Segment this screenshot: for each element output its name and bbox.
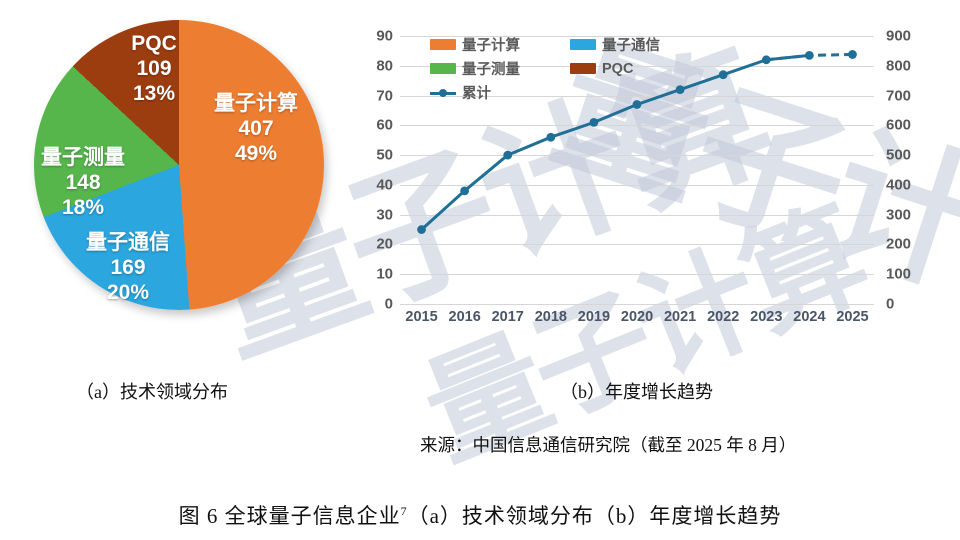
figure-page: 量子计算 量子计算 量子计算 量子计算 407 49% 量子通信 169 20%… [0,0,960,540]
legend-row: 量子计算 量子通信 [430,34,730,55]
y-axis-right-tick: 400 [886,176,911,193]
x-axis-tick-label: 2025 [836,309,868,325]
legend-item-quantum-communication: 量子通信 [570,34,710,55]
cumulative-data-point[interactable] [546,133,555,142]
pie-label-quantum-communication: 量子通信 169 20% [64,231,192,305]
x-axis-tick-label: 2019 [578,309,610,325]
y-axis-left-tick: 30 [376,206,393,223]
legend-item-quantum-computing: 量子计算 [430,34,570,55]
legend-item-quantum-measurement: 量子测量 [430,58,570,79]
y-axis-left-tick: 80 [376,57,393,74]
legend-swatch-icon [430,39,456,50]
x-axis-tick-label: 2024 [793,309,825,325]
cumulative-data-point[interactable] [503,151,512,160]
cumulative-data-point[interactable] [762,55,771,64]
cumulative-data-point[interactable] [460,186,469,195]
cumulative-data-point[interactable] [848,50,857,59]
pie-label-pqc: PQC 109 13% [108,32,200,106]
cumulative-data-point[interactable] [590,118,599,127]
y-axis-right-tick: 700 [886,87,911,104]
pie-slice-percent: 18% [18,196,148,221]
cumulative-data-point[interactable] [805,51,814,60]
legend-swatch-icon [570,39,596,50]
y-axis-right-tick: 600 [886,117,911,134]
figure-caption: 图 6 全球量子信息企业7（a）技术领域分布（b）年度增长趋势 [0,500,960,530]
source-note: 来源：中国信息通信研究院（截至 2025 年 8 月） [420,432,796,457]
bar-chart-annual-growth: 0010100202003030040400505006060070700808… [352,22,952,342]
pie-slice-value: 148 [18,171,148,196]
y-axis-right-tick: 100 [886,266,911,283]
y-axis-right-tick: 200 [886,236,911,253]
figure-caption-prefix: 图 6 全球量子信息企业 [179,504,401,528]
pie-label-quantum-measurement: 量子测量 148 18% [18,146,148,220]
y-axis-left-tick: 60 [376,117,393,134]
x-axis-tick-label: 2021 [664,309,696,325]
pie-slice-label: 量子计算 [192,92,320,117]
x-axis-tick-label: 2023 [750,309,782,325]
legend-row: 累计 [430,82,730,103]
pie-slice-label: 量子测量 [18,146,148,171]
y-axis-right-tick: 0 [886,296,894,313]
y-axis-left-tick: 90 [376,28,393,45]
legend-label: 量子通信 [602,34,660,55]
pie-slice-percent: 49% [192,142,320,167]
x-axis-tick-label: 2022 [707,309,739,325]
legend-item-cumulative: 累计 [430,82,570,103]
x-axis-tick-label: 2016 [449,309,481,325]
x-axis-tick-label: 2017 [492,309,524,325]
y-axis-left-tick: 20 [376,236,393,253]
y-axis-left-tick: 0 [385,296,393,313]
cumulative-data-point[interactable] [417,225,426,234]
legend-line-marker-icon [430,87,456,98]
pie-slice-label: 量子通信 [64,231,192,256]
legend-item-pqc: PQC [570,58,710,79]
pie-slice-percent: 13% [108,82,200,107]
subcaption-a: （a）技术领域分布 [76,378,228,404]
y-axis-left-tick: 50 [376,147,393,164]
subcaption-b: （b）年度增长趋势 [560,378,713,404]
figure-caption-suffix: （a）技术领域分布（b）年度增长趋势 [408,504,782,528]
x-axis-tick-label: 2015 [405,309,437,325]
pie-label-quantum-computing: 量子计算 407 49% [192,92,320,166]
x-axis-tick-label: 2020 [621,309,653,325]
legend-row: 量子测量 PQC [430,58,730,79]
y-axis-right-tick: 300 [886,206,911,223]
y-axis-right-tick: 500 [886,147,911,164]
legend-label: PQC [602,61,633,77]
y-axis-left-tick: 40 [376,176,393,193]
legend-label: 量子测量 [462,58,520,79]
pie-slice-percent: 20% [64,281,192,306]
y-axis-left-tick: 70 [376,87,393,104]
chart-legend: 量子计算 量子通信 量子测量 PQC [430,34,730,106]
legend-label: 累计 [462,82,491,103]
y-axis-right-tick: 800 [886,57,911,74]
pie-chart-technology-distribution: 量子计算 407 49% 量子通信 169 20% 量子测量 148 18% P… [12,6,342,336]
y-axis-left-tick: 10 [376,266,393,283]
gridline [400,304,874,305]
legend-label: 量子计算 [462,34,520,55]
legend-swatch-icon [430,63,456,74]
pie-slice-value: 109 [108,57,200,82]
legend-swatch-icon [570,63,596,74]
pie-slice-label: PQC [108,32,200,57]
pie-slice-value: 169 [64,256,192,281]
pie-slice-value: 407 [192,117,320,142]
x-axis-tick-label: 2018 [535,309,567,325]
y-axis-right-tick: 900 [886,28,911,45]
figure-caption-footnote-ref: 7 [401,504,408,518]
